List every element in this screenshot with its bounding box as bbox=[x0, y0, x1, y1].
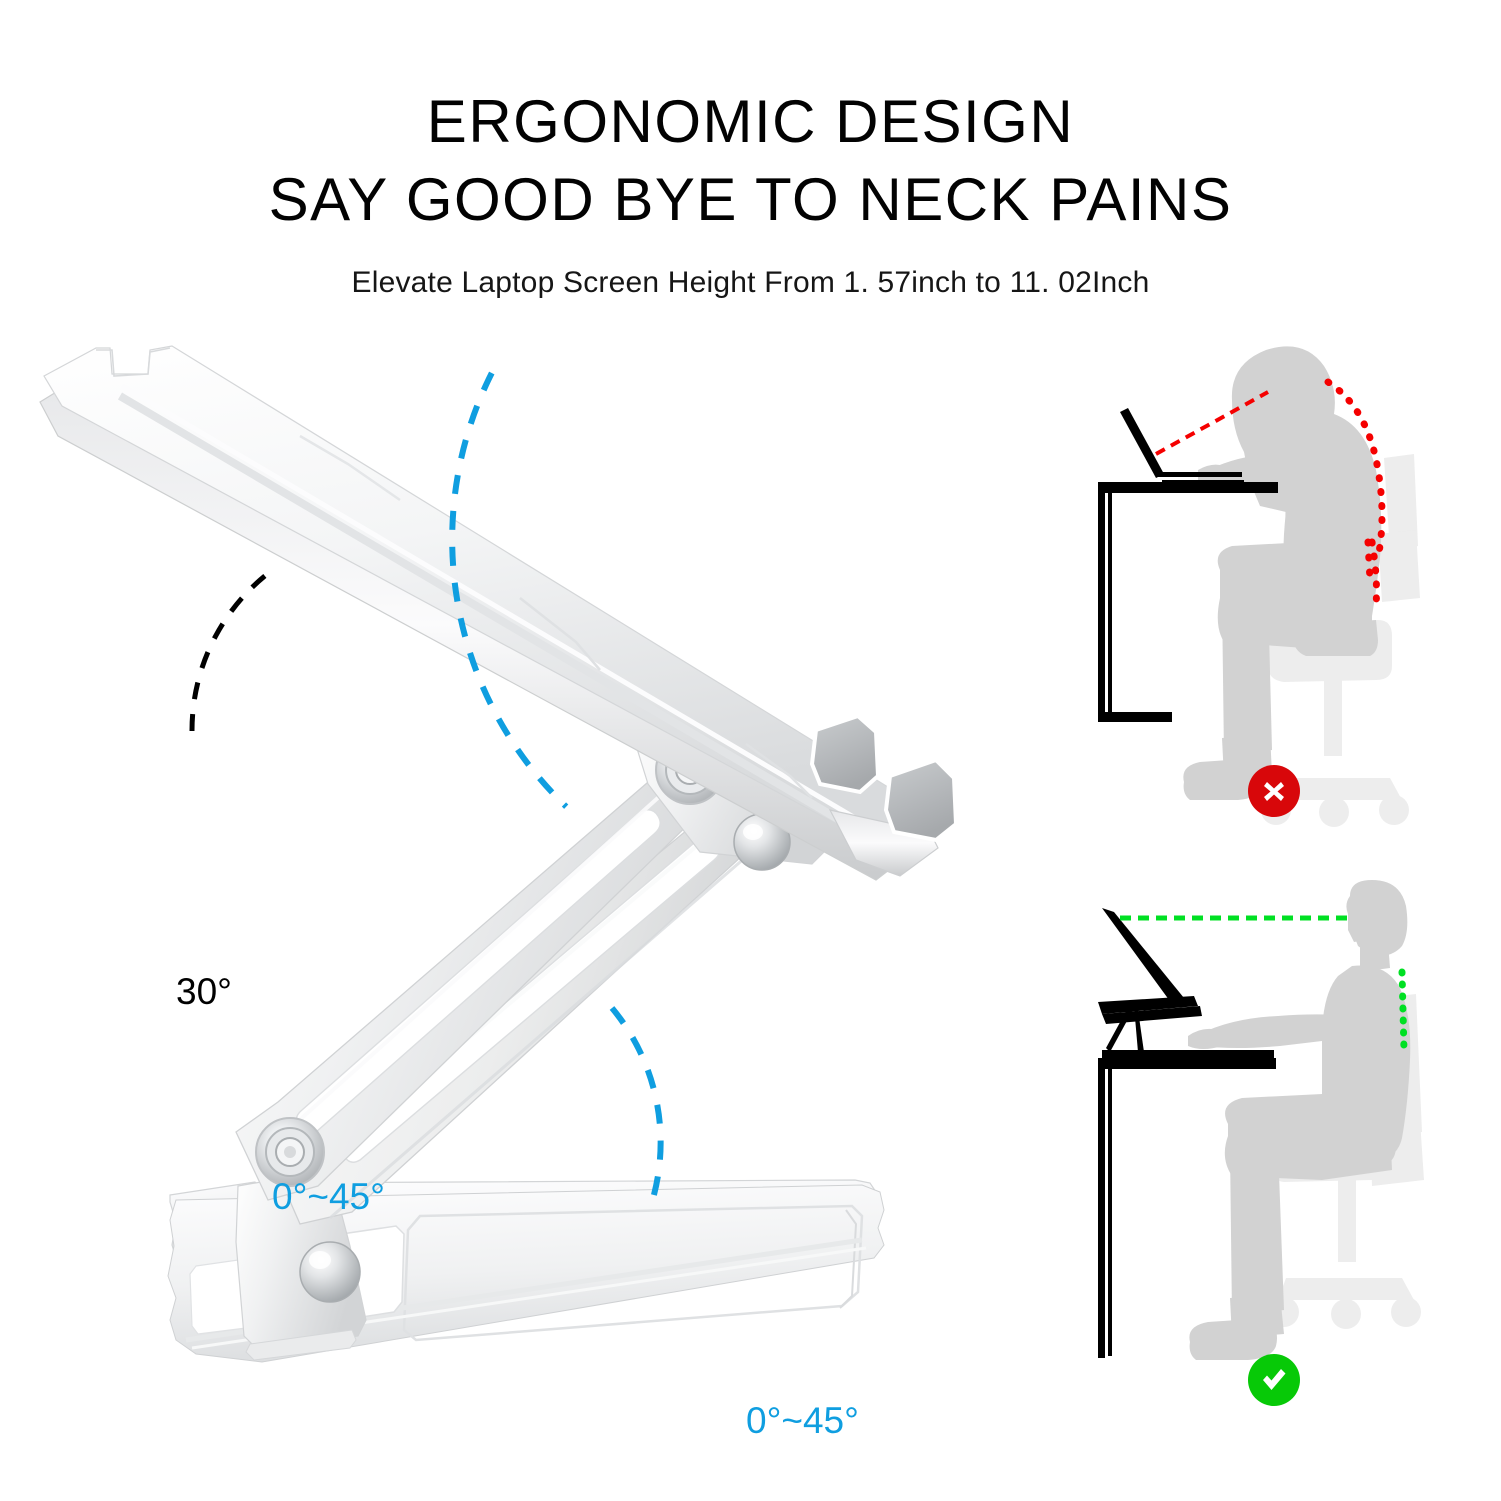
incorrect-posture-badge bbox=[1248, 765, 1300, 817]
laptop-stand-illustration bbox=[0, 340, 1060, 1460]
subheadline: Elevate Laptop Screen Height From 1. 57i… bbox=[0, 266, 1501, 300]
screen-angle-arc bbox=[192, 575, 266, 731]
product-diagram: 30° 0°~45° 0°~45° bbox=[0, 340, 1060, 1460]
screen-angle-label: 30° bbox=[176, 973, 232, 1010]
correct-posture-badge bbox=[1248, 1354, 1300, 1406]
headline-secondary: SAY GOOD BYE TO NECK PAINS bbox=[0, 166, 1501, 234]
header-block: ERGONOMIC DESIGN SAY GOOD BYE TO NECK PA… bbox=[0, 88, 1501, 300]
infographic-page: ERGONOMIC DESIGN SAY GOOD BYE TO NECK PA… bbox=[0, 0, 1501, 1501]
laptop-graphic bbox=[1120, 408, 1244, 484]
lower-ball-detent bbox=[300, 1242, 360, 1302]
person-silhouette-hunched bbox=[1183, 346, 1381, 800]
check-icon bbox=[1258, 1364, 1290, 1396]
lower-tilt-range-label: 0°~45° bbox=[746, 1402, 859, 1439]
laptop-support-plate bbox=[40, 346, 938, 880]
upper-tilt-range-label: 0°~45° bbox=[272, 1178, 385, 1215]
cross-icon bbox=[1259, 776, 1289, 806]
lower-tilt-arc bbox=[612, 1008, 661, 1202]
headline-primary: ERGONOMIC DESIGN bbox=[0, 88, 1501, 156]
